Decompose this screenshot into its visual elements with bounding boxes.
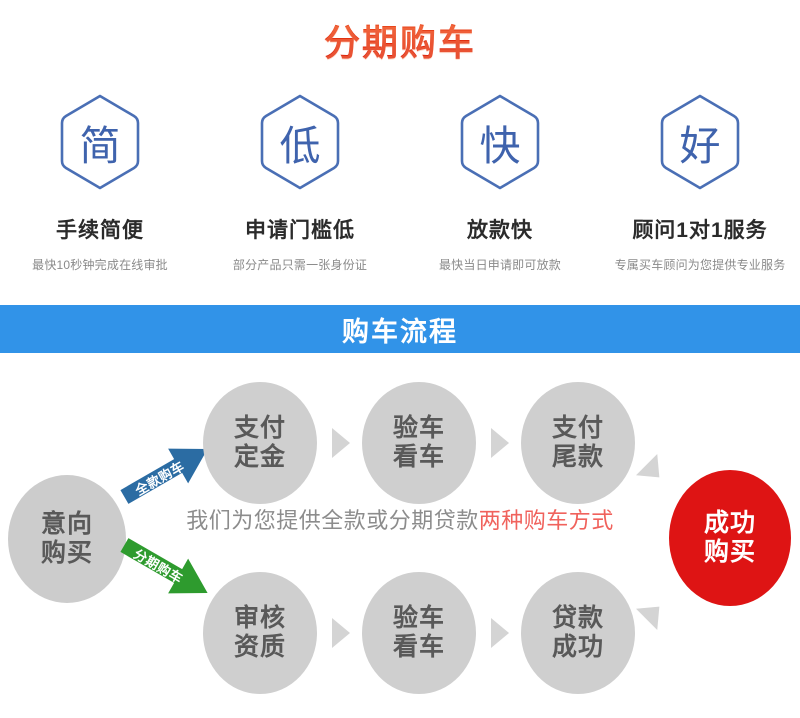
features-row: 简 手续简便 最快10秒钟完成在线审批 低 申请门槛低 部分产品只需一张身份证 … [0, 92, 800, 273]
feature-subtitle-2: 最快当日申请即可放款 [439, 256, 561, 273]
flow-node-top-0[interactable]: 支付 定金 [203, 382, 317, 504]
feature-subtitle-0: 最快10秒钟完成在线审批 [32, 256, 168, 273]
flow-node-bottom-2-line2: 成功 [552, 633, 604, 663]
flow-node-top-1[interactable]: 验车 看车 [362, 382, 476, 504]
hexagon-icon-2: 快 [456, 92, 544, 192]
flow-node-top-2-line2: 尾款 [552, 443, 604, 473]
feature-title-3: 顾问1对1服务 [632, 214, 767, 244]
flow-connector-top-to-success [636, 454, 670, 488]
hexagon-character-2: 快 [456, 92, 544, 192]
flow-connector-bottom-to-success [636, 596, 670, 630]
flow-node-top-0-line2: 定金 [234, 443, 286, 473]
section-banner: 购车流程 [0, 305, 800, 353]
flow-node-bottom-2[interactable]: 贷款 成功 [521, 572, 635, 694]
flow-connector-top-1 [491, 428, 509, 458]
flow-description-highlight: 两种购车方式 [479, 508, 614, 533]
feature-subtitle-3: 专属买车顾问为您提供专业服务 [615, 256, 786, 273]
feature-title-0: 手续简便 [56, 214, 144, 244]
purchase-flow-diagram: 意向 购买 全款购车 分期购车 支付 定金 验车 看车 [0, 353, 800, 718]
hexagon-character-3: 好 [656, 92, 744, 192]
flow-node-bottom-2-line1: 贷款 [552, 604, 604, 634]
flow-description-plain: 我们为您提供全款或分期贷款 [186, 508, 479, 533]
feature-subtitle-1: 部分产品只需一张身份证 [233, 256, 367, 273]
flow-node-bottom-1[interactable]: 验车 看车 [362, 572, 476, 694]
flow-node-top-2-line1: 支付 [552, 414, 604, 444]
banner-title: 购车流程 [342, 310, 458, 349]
feature-item-3: 好 顾问1对1服务 专属买车顾问为您提供专业服务 [600, 92, 800, 273]
page-title: 分期购车 [0, 14, 800, 66]
flow-node-bottom-0[interactable]: 审核 资质 [203, 572, 317, 694]
flow-node-bottom-0-line1: 审核 [234, 604, 286, 634]
flow-node-bottom-1-line1: 验车 [393, 604, 445, 634]
hexagon-icon-3: 好 [656, 92, 744, 192]
flow-connector-bottom-0 [332, 618, 350, 648]
flow-node-top-0-line1: 支付 [234, 414, 286, 444]
flow-node-start-line2: 购买 [41, 539, 93, 569]
hexagon-character-1: 低 [256, 92, 344, 192]
feature-title-2: 放款快 [467, 214, 533, 244]
flow-node-top-1-line2: 看车 [393, 443, 445, 473]
flow-branch-arrow-installment[interactable]: 分期购车 [114, 528, 217, 611]
flow-node-top-2[interactable]: 支付 尾款 [521, 382, 635, 504]
flow-description: 我们为您提供全款或分期贷款两种购车方式 [0, 503, 800, 535]
feature-title-1: 申请门槛低 [245, 214, 355, 244]
flow-branch-arrow-installment-label: 分期购车 [114, 528, 217, 611]
flow-connector-top-0 [332, 428, 350, 458]
hexagon-icon-1: 低 [256, 92, 344, 192]
promo-page: 分期购车 简 手续简便 最快10秒钟完成在线审批 低 申请门槛低 部分产品只需一… [0, 0, 800, 718]
flow-node-bottom-1-line2: 看车 [393, 633, 445, 663]
flow-connector-bottom-1 [491, 618, 509, 648]
flow-node-success-line2: 购买 [704, 538, 756, 568]
feature-item-1: 低 申请门槛低 部分产品只需一张身份证 [200, 92, 400, 273]
flow-node-top-1-line1: 验车 [393, 414, 445, 444]
hexagon-icon-0: 简 [56, 92, 144, 192]
feature-item-0: 简 手续简便 最快10秒钟完成在线审批 [0, 92, 200, 273]
feature-item-2: 快 放款快 最快当日申请即可放款 [400, 92, 600, 273]
flow-node-bottom-0-line2: 资质 [234, 633, 286, 663]
flow-node-start[interactable]: 意向 购买 [8, 475, 126, 603]
flow-node-success[interactable]: 成功 购买 [669, 470, 791, 606]
hexagon-character-0: 简 [56, 92, 144, 192]
